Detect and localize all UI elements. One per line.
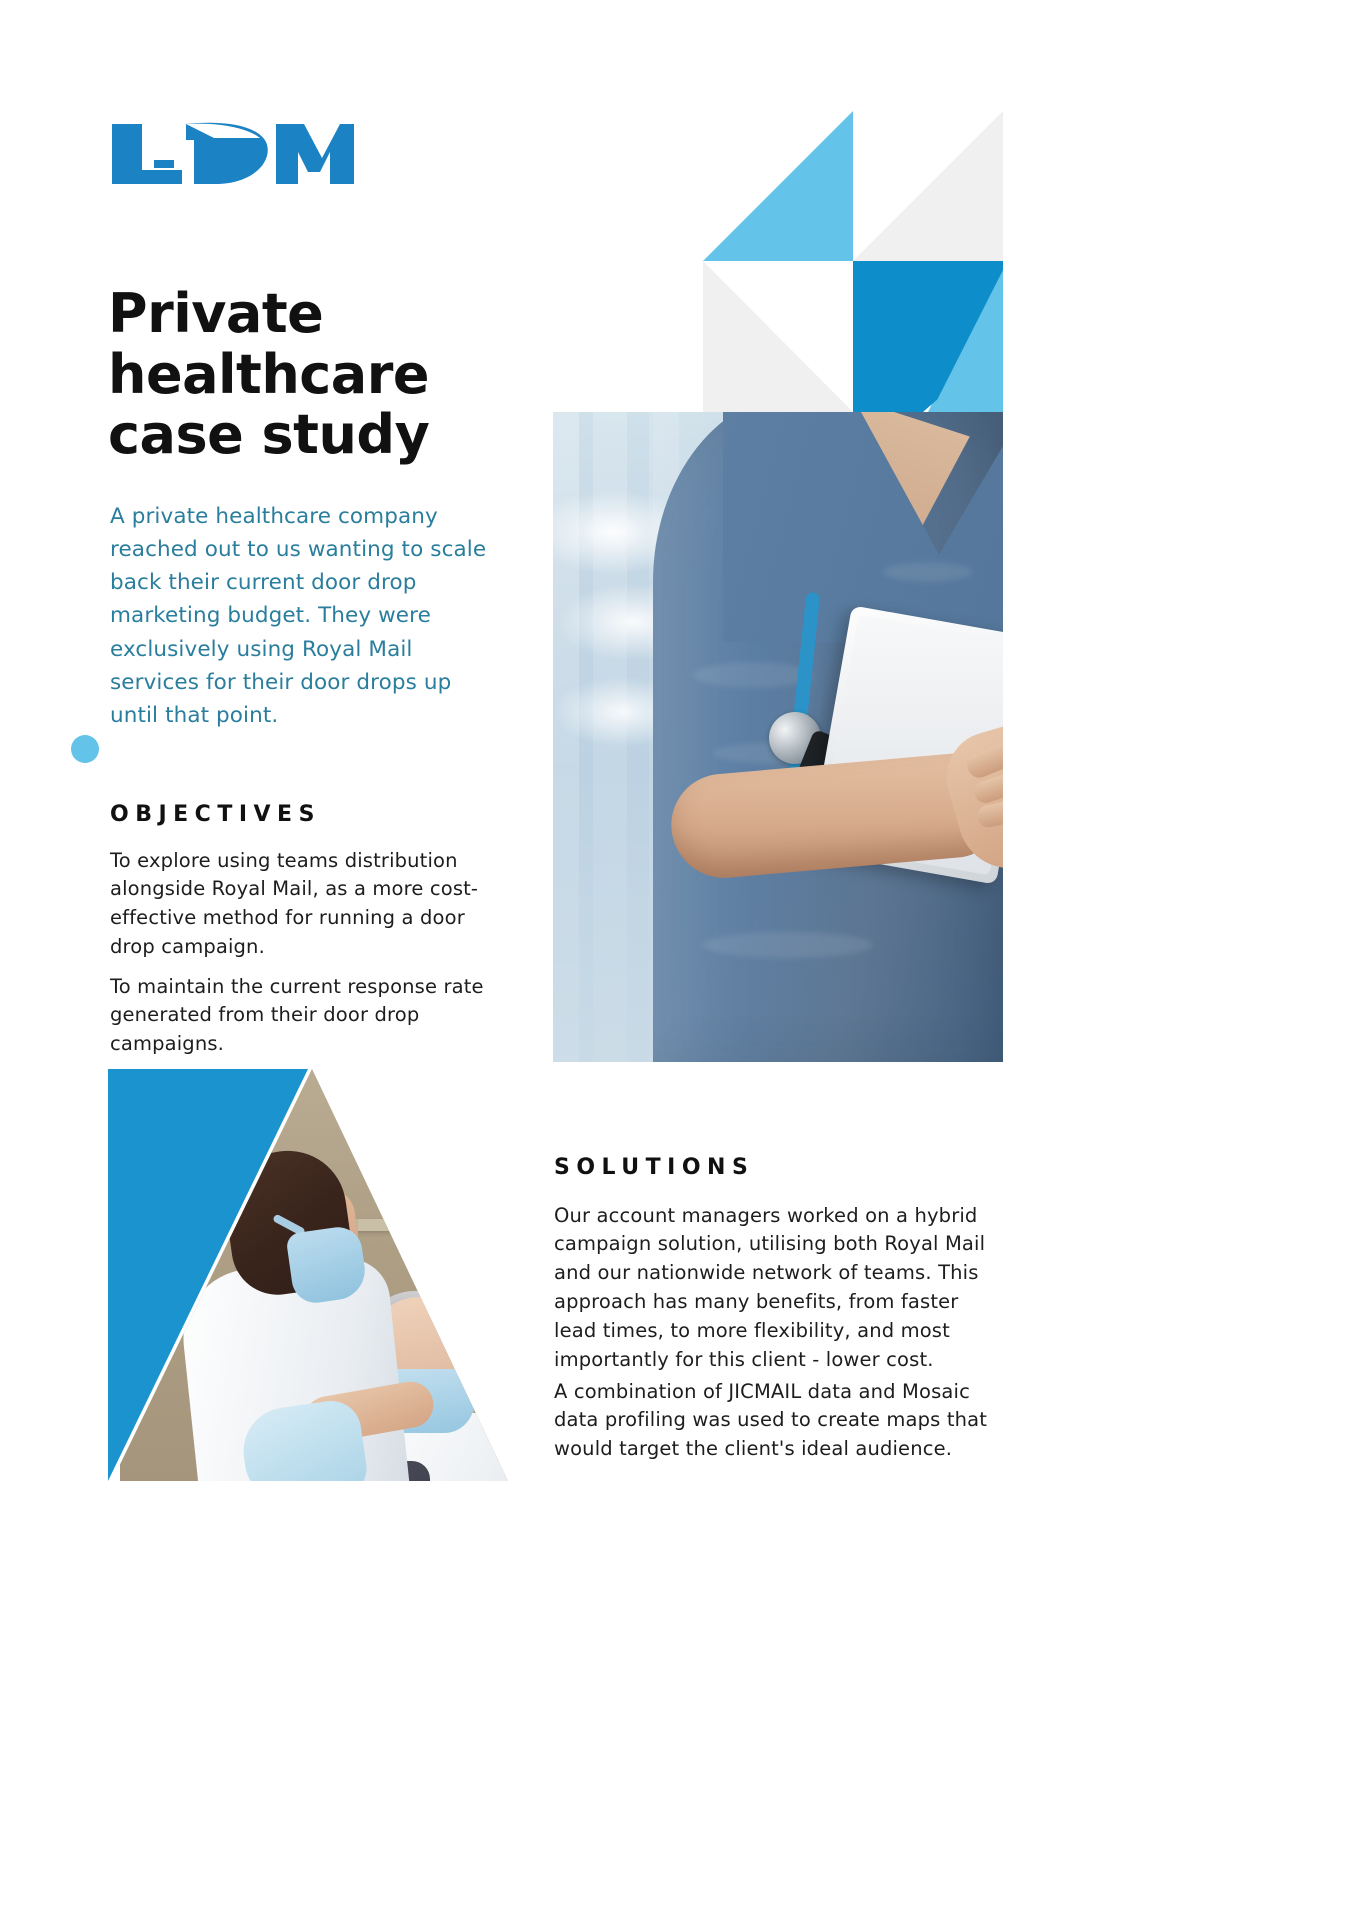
objectives-paragraph-2: To maintain the current response rate ge… <box>110 973 502 1060</box>
solutions-paragraph-1: Our account managers worked on a hybrid … <box>554 1202 1006 1375</box>
intro-paragraph: A private healthcare company reached out… <box>110 500 495 733</box>
objectives-heading: OBJECTIVES <box>110 802 321 827</box>
page-title: Private healthcare case study <box>108 284 508 465</box>
title-line-2: healthcare <box>108 345 508 405</box>
objectives-paragraph-1: To explore using teams distribution alon… <box>110 847 502 962</box>
consultation-composition <box>108 1069 508 1481</box>
solutions-heading: SOLUTIONS <box>554 1155 754 1180</box>
nurse-tablet-photo <box>553 412 1003 1062</box>
poster-page: Private healthcare case study A private … <box>0 0 1357 1920</box>
title-line-1: Private <box>108 284 508 344</box>
ldm-logo[interactable] <box>108 118 358 190</box>
title-line-3: case study <box>108 405 508 465</box>
blue-dot-icon <box>71 735 99 763</box>
solutions-paragraph-2: A combination of JICMAIL data and Mosaic… <box>554 1378 1006 1465</box>
triangle-pattern-graphic <box>553 110 1003 412</box>
